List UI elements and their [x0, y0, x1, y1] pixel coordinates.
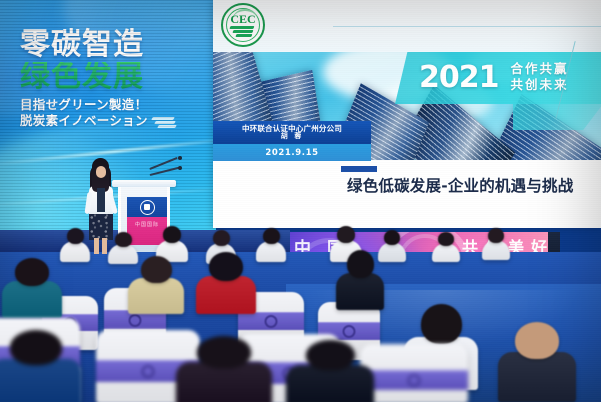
- banner-subtitle-line1: 目指せグリーン製造！: [20, 99, 205, 112]
- attendee-torso: [482, 240, 510, 260]
- attendee-torso: [128, 278, 184, 314]
- microphone-head-2: [178, 166, 182, 170]
- banner-subtitle-line2: 脱炭素イノベーション: [20, 115, 148, 128]
- attendee-head: [515, 322, 559, 359]
- attendee-head: [163, 226, 181, 243]
- attendee-front-right: [286, 340, 374, 402]
- banner-headline-line1: 零碳智造: [20, 30, 205, 60]
- presenter-leg-left: [94, 238, 99, 254]
- attendee-head: [10, 330, 62, 365]
- attendee-white-shirt-8: [432, 232, 460, 262]
- slide-date-band: 2021.9.15: [213, 144, 371, 161]
- attendee-red-top: [196, 252, 256, 314]
- slide-main-title: 绿色低碳发展-企业的机遇与挑战: [347, 174, 601, 196]
- cec-logo-text: CEC: [230, 13, 255, 25]
- attendee-head: [263, 228, 280, 244]
- attendee-torso: [0, 359, 82, 402]
- slide-header-divider: [333, 26, 601, 27]
- attendee-torso: [256, 241, 286, 262]
- slide-year-text: 2021: [419, 63, 499, 93]
- attendee-white-shirt-1: [60, 228, 90, 262]
- attendee-front-left: [0, 330, 82, 402]
- attendee-head: [337, 226, 355, 243]
- speed-lines-icon: [152, 115, 182, 129]
- slide-footer-area: [213, 196, 601, 228]
- attendee-head: [213, 230, 230, 246]
- attendee-torso: [336, 273, 384, 310]
- banner-headline-line2: 绿色发展: [20, 62, 205, 92]
- attendee-white-shirt-5: [256, 228, 286, 262]
- stage-banner-headline: 零碳智造 绿色发展 目指せグリーン製造！ 脱炭素イノベーション: [20, 30, 205, 129]
- slogan-line2: 共创未来: [511, 78, 569, 94]
- attendee-torso: [60, 241, 90, 262]
- banner-subtitle-row: 脱炭素イノベーション: [20, 115, 205, 129]
- attendee-teal-blouse: [2, 258, 62, 318]
- attendee-head: [15, 258, 49, 286]
- attendee-head: [347, 250, 374, 278]
- slide-date: 2021.9.15: [265, 148, 318, 158]
- conference-emblem-icon: [140, 200, 155, 215]
- slide-slogan: 合作共赢 共创未来: [511, 62, 569, 93]
- attendee-torso: [196, 276, 256, 314]
- attendee-head: [115, 232, 132, 247]
- microphone-head-1: [178, 156, 182, 160]
- chair-sash: [238, 312, 304, 330]
- attendee-head: [438, 232, 454, 246]
- attendee-torso: [498, 352, 576, 402]
- attendee-head: [141, 256, 172, 283]
- chair-sash-ring: [265, 315, 278, 328]
- chair-sash-ring: [343, 325, 356, 338]
- presenter-leg-right: [102, 238, 107, 254]
- attendee-head: [306, 340, 355, 370]
- slide-title-accent-bar: [341, 166, 377, 172]
- chair-sash-ring: [129, 314, 142, 327]
- attendee-head: [384, 230, 400, 245]
- attendee-head: [488, 228, 504, 243]
- cec-logo-swish-icon: [230, 26, 256, 37]
- chair-sash-ring: [142, 365, 155, 378]
- presenter-face: [96, 166, 106, 178]
- attendee-front-mid: [176, 336, 272, 402]
- slide-presenter-name: 胡 蓉: [242, 133, 342, 140]
- conference-photo: 零碳智造 绿色发展 目指せグリーン製造！ 脱炭素イノベーション CEC: [0, 0, 601, 402]
- presenter-inner-top: [97, 188, 105, 212]
- attendee-head: [421, 304, 462, 344]
- cec-logo-icon: CEC: [221, 3, 265, 47]
- attendee-white-shirt-9: [482, 228, 510, 260]
- presentation-slide: CEC 2021 合作共赢 共创未来 中环联合认证中心广州分公司 胡: [213, 0, 601, 228]
- attendee-torso: [2, 281, 62, 318]
- attendee-head: [67, 228, 84, 244]
- attendee-head: [209, 252, 243, 281]
- attendee-torso: [176, 362, 272, 402]
- chair-sash-ring: [408, 374, 421, 387]
- attendee-bald-man: [498, 322, 576, 402]
- chair-sash: [360, 370, 468, 390]
- attendee-torso: [286, 365, 374, 402]
- audience-chair: [360, 344, 468, 402]
- attendee-beige-top: [128, 256, 184, 314]
- slogan-line1: 合作共赢: [511, 62, 569, 78]
- attendee-head: [197, 336, 251, 368]
- podium-top-surface: [112, 180, 176, 187]
- podium-upper-panel: [127, 197, 167, 217]
- attendee-dark-suit: [336, 250, 384, 310]
- slide-presenter-band: 中环联合认证中心广州分公司 胡 蓉: [213, 121, 371, 144]
